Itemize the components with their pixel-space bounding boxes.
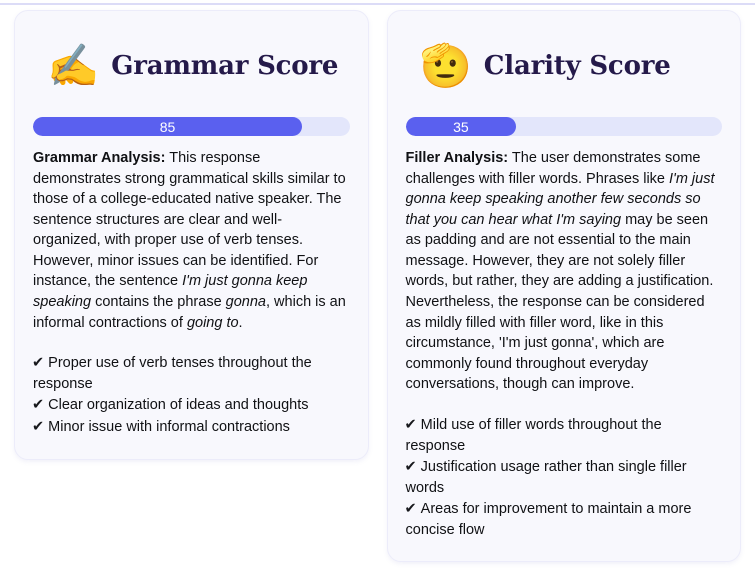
check-mark-icon: ✔ — [405, 417, 421, 433]
filler-analysis-label: Filler Analysis: — [406, 150, 509, 166]
finding-item: ✔Minor issue with informal contractions — [33, 417, 350, 438]
quoted-phrase: going to — [187, 315, 239, 331]
grammar-score-progress-track[interactable]: 85 — [33, 117, 350, 136]
analysis-run: may be seen as padding and are not essen… — [406, 212, 714, 393]
finding-item: ✔Mild use of filler words throughout the… — [406, 415, 723, 456]
finding-label: Minor issue with informal contractions — [48, 419, 290, 435]
score-card-board: ✍️ Grammar Score 85 Grammar Analysis: Th… — [0, 10, 755, 562]
clarity-findings-list: ✔Mild use of filler words throughout the… — [406, 415, 723, 540]
grammar-analysis-label: Grammar Analysis: — [33, 150, 165, 166]
grammar-analysis-body: This response demonstrates strong gramma… — [33, 150, 346, 331]
filler-analysis-text: Filler Analysis: The user demonstrates s… — [406, 148, 723, 395]
finding-label: Clear organization of ideas and thoughts — [48, 397, 308, 413]
saluting-face-icon: 🫡 — [420, 45, 472, 87]
analysis-run: contains the phrase — [91, 294, 226, 310]
check-mark-icon: ✔ — [32, 419, 48, 435]
clarity-card-title: Clarity Score — [484, 51, 671, 81]
check-mark-icon: ✔ — [405, 459, 421, 475]
finding-label: Proper use of verb tenses throughout the… — [33, 355, 312, 392]
filler-analysis-body: The user demonstrates some challenges wi… — [406, 150, 715, 392]
clarity-score-progress-fill: 35 — [406, 117, 517, 136]
analysis-run: This response demonstrates strong gramma… — [33, 150, 346, 289]
clarity-score-value: 35 — [453, 120, 469, 134]
grammar-analysis-text: Grammar Analysis: This response demonstr… — [33, 148, 350, 333]
finding-label: Mild use of filler words throughout the … — [406, 417, 662, 454]
clarity-score-progress-track[interactable]: 35 — [406, 117, 723, 136]
grammar-score-card: ✍️ Grammar Score 85 Grammar Analysis: Th… — [14, 10, 369, 460]
grammar-card-header: ✍️ Grammar Score — [33, 29, 350, 101]
analysis-run: . — [239, 315, 243, 331]
check-mark-icon: ✔ — [405, 501, 421, 517]
finding-item: ✔Proper use of verb tenses throughout th… — [33, 353, 350, 394]
finding-label: Justification usage rather than single f… — [406, 459, 687, 496]
finding-item: ✔Areas for improvement to maintain a mor… — [406, 499, 723, 540]
grammar-card-title: Grammar Score — [111, 51, 338, 81]
grammar-findings-list: ✔Proper use of verb tenses throughout th… — [33, 353, 350, 437]
finding-item: ✔Clear organization of ideas and thought… — [33, 395, 350, 416]
grammar-score-progress-fill: 85 — [33, 117, 302, 136]
writing-hand-icon: ✍️ — [47, 45, 99, 87]
finding-item: ✔Justification usage rather than single … — [406, 457, 723, 498]
clarity-card-header: 🫡 Clarity Score — [406, 29, 723, 101]
grammar-score-value: 85 — [160, 120, 176, 134]
check-mark-icon: ✔ — [32, 355, 48, 371]
check-mark-icon: ✔ — [32, 397, 48, 413]
page-top-rule — [0, 3, 755, 5]
quoted-phrase: gonna — [226, 294, 266, 310]
clarity-score-card: 🫡 Clarity Score 35 Filler Analysis: The … — [387, 10, 742, 562]
finding-label: Areas for improvement to maintain a more… — [406, 501, 692, 538]
